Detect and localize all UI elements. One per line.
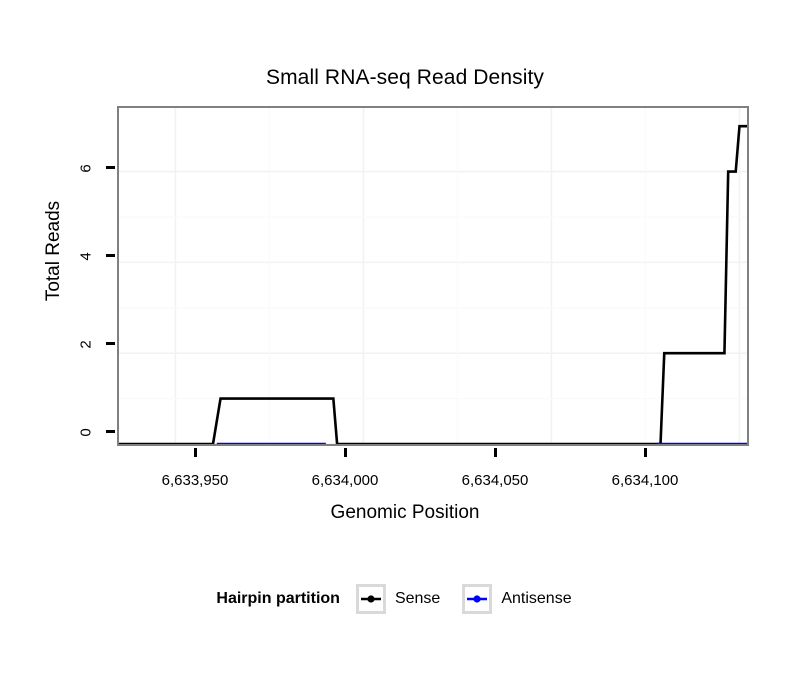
series-line-sense [119, 126, 747, 444]
x-tick-mark-4 [644, 448, 647, 457]
legend-label-antisense: Antisense [501, 590, 571, 608]
x-tick-mark-2 [344, 448, 347, 457]
y-tick-label-0: 0 [78, 418, 95, 448]
plot-panel [117, 106, 749, 446]
legend-label-sense: Sense [395, 590, 440, 608]
y-tick-label-4: 4 [78, 242, 95, 272]
legend-entry-antisense[interactable]: Antisense [462, 584, 583, 614]
chart-figure: Small RNA-seq Read Density Total Reads G… [0, 0, 810, 690]
legend-entry-sense[interactable]: Sense [356, 584, 452, 614]
x-tick-label-4: 6,634,100 [575, 472, 715, 489]
legend-key-sense [356, 584, 386, 614]
y-tick-label-2: 2 [78, 330, 95, 360]
x-tick-label-1: 6,633,950 [125, 472, 265, 489]
plot-canvas [119, 108, 747, 444]
y-tick-mark-2 [106, 342, 115, 345]
data-series-layer [119, 126, 747, 444]
x-tick-label-2: 6,634,000 [275, 472, 415, 489]
x-axis-title: Genomic Position [0, 502, 810, 524]
y-axis-title: Total Reads [43, 191, 65, 311]
x-tick-label-3: 6,634,050 [425, 472, 565, 489]
legend-key-antisense [462, 584, 492, 614]
chart-title: Small RNA-seq Read Density [0, 66, 810, 90]
gridlines [119, 108, 747, 444]
line-point-icon [360, 588, 382, 610]
legend-title: Hairpin partition [216, 590, 340, 608]
y-tick-mark-4 [106, 254, 115, 257]
y-tick-label-6: 6 [78, 154, 95, 184]
x-tick-mark-3 [494, 448, 497, 457]
line-point-icon [466, 588, 488, 610]
x-tick-mark-1 [194, 448, 197, 457]
chart-legend: Hairpin partition Sense Antisense [0, 584, 810, 614]
y-tick-mark-6 [106, 166, 115, 169]
y-tick-mark-0 [106, 430, 115, 433]
